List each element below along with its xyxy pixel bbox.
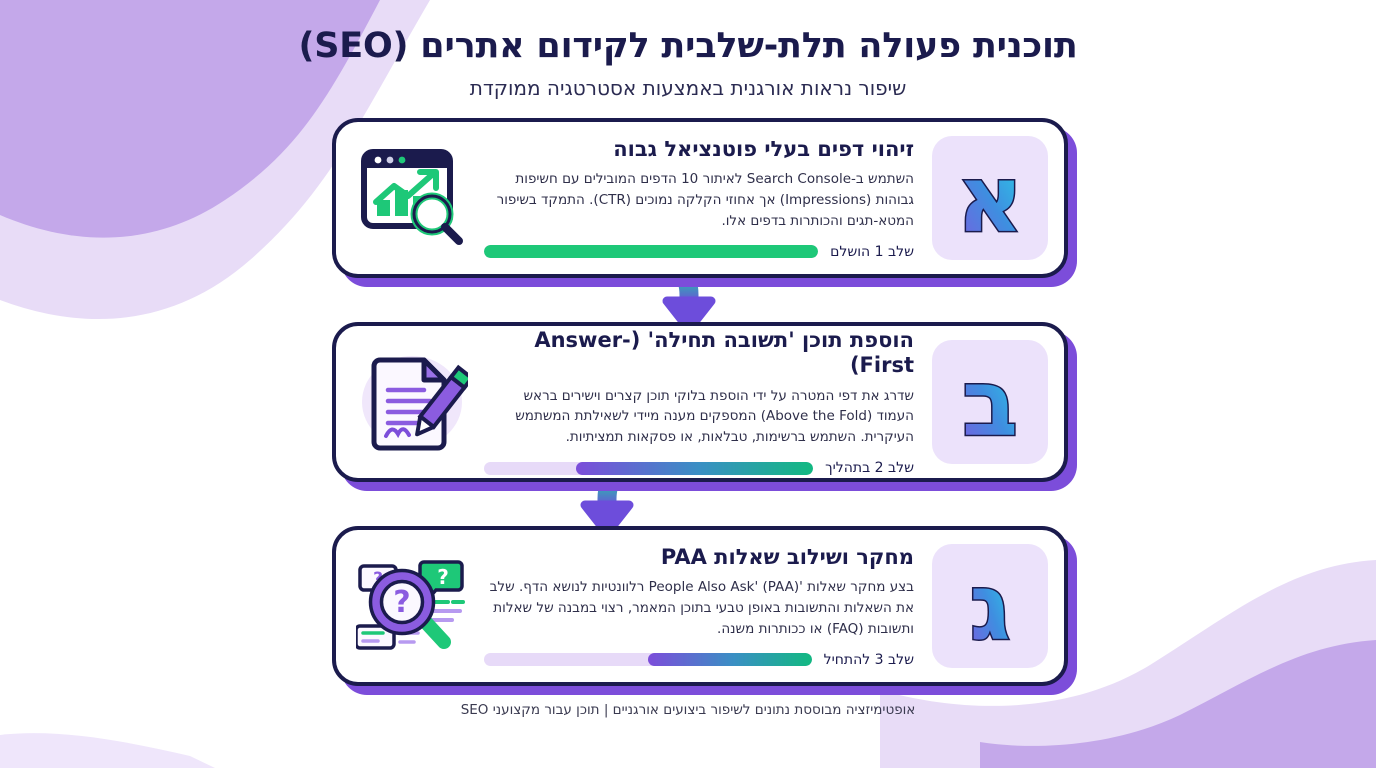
step-description-1: השתמש ב-Search Console לאיתור 10 הדפים ה… xyxy=(484,169,914,232)
infographic-page: תוכנית פעולה תלת-שלבית לקידום אתרים (SEO… xyxy=(0,0,1376,768)
magnifier-question-bubbles-icon: ? ? xyxy=(350,547,474,665)
progress-fill-2 xyxy=(576,462,813,475)
progress-row-1: שלב 1 הושלם xyxy=(484,244,914,260)
step-card-3[interactable]: ג מחקר ושילוב שאלות PAA בצע מחקר שאלות '… xyxy=(332,526,1068,686)
svg-text:?: ? xyxy=(393,585,410,620)
steps-container: א זיהוי דפים בעלי פוטנציאל גבוה השתמש ב-… xyxy=(308,118,1068,686)
document-pencil-edit-icon xyxy=(350,343,474,461)
page-header: תוכנית פעולה תלת-שלבית לקידום אתרים (SEO… xyxy=(298,26,1077,100)
progress-fill-1 xyxy=(484,245,818,258)
progress-fill-3 xyxy=(648,653,812,666)
progress-row-2: שלב 2 בתהליך xyxy=(484,460,914,476)
progress-bar-2[interactable] xyxy=(484,462,813,475)
progress-row-3: שלב 3 להתחיל xyxy=(484,652,914,668)
step-content-3: מחקר ושילוב שאלות PAA בצע מחקר שאלות 'Pe… xyxy=(474,545,932,668)
step-description-2: שדרג את דפי המטרה על ידי הוספת בלוקי תוכ… xyxy=(484,386,914,449)
step-description-3: בצע מחקר שאלות 'People Also Ask' (PAA) ר… xyxy=(484,577,914,640)
step-letter-alef-text: א xyxy=(957,146,1024,253)
step-letter-gimel: ג xyxy=(932,544,1048,668)
progress-bar-3[interactable] xyxy=(484,653,812,666)
step-letter-bet: ב xyxy=(932,340,1048,464)
step-letter-alef: א xyxy=(932,136,1048,260)
page-subtitle: שיפור נראות אורגנית באמצעות אסטרטגיה ממו… xyxy=(298,76,1077,100)
step-title-1: זיהוי דפים בעלי פוטנציאל גבוה xyxy=(484,137,914,162)
footer-note: אופטימיזציה מבוססת נתונים לשיפור ביצועים… xyxy=(461,702,916,718)
progress-label-3: שלב 3 להתחיל xyxy=(824,652,914,668)
step-card-1[interactable]: א זיהוי דפים בעלי פוטנציאל גבוה השתמש ב-… xyxy=(332,118,1068,278)
progress-bar-1[interactable] xyxy=(484,245,818,258)
progress-label-2: שלב 2 בתהליך xyxy=(825,460,914,476)
browser-analytics-search-icon xyxy=(350,139,474,257)
step-title-3: מחקר ושילוב שאלות PAA xyxy=(484,545,914,570)
step-content-2: הוספת תוכן 'תשובה תחילה' (Answer-First) … xyxy=(474,328,932,476)
svg-text:?: ? xyxy=(437,565,449,589)
step-letter-bet-text: ב xyxy=(962,350,1018,457)
step-content-1: זיהוי דפים בעלי פוטנציאל גבוה השתמש ב-Se… xyxy=(474,137,932,260)
page-title: תוכנית פעולה תלת-שלבית לקידום אתרים (SEO… xyxy=(298,26,1077,66)
step-title-2: הוספת תוכן 'תשובה תחילה' (Answer-First) xyxy=(484,328,914,378)
step-card-2[interactable]: ב הוספת תוכן 'תשובה תחילה' (Answer-First… xyxy=(332,322,1068,482)
step-letter-gimel-text: ג xyxy=(969,554,1010,661)
progress-label-1: שלב 1 הושלם xyxy=(830,244,914,260)
